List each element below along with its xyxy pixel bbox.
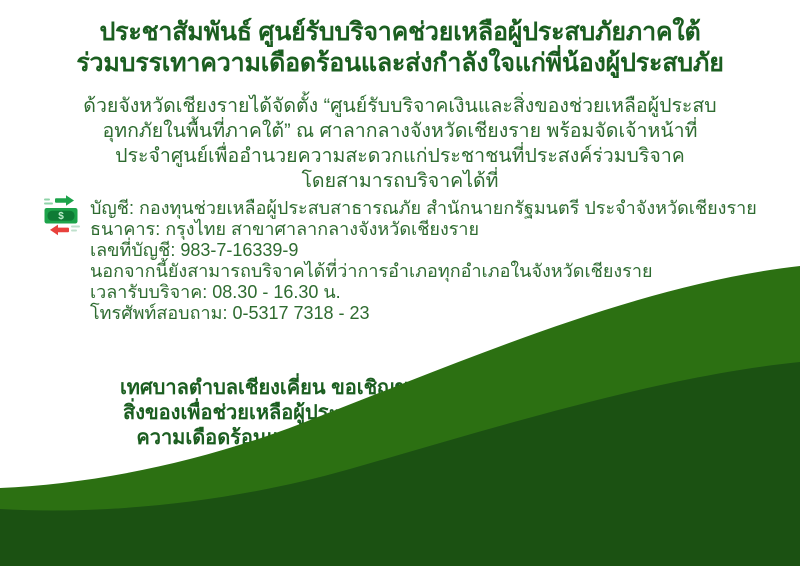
svg-text:$: $ <box>58 211 64 222</box>
detail-phone: โทรศัพท์สอบถาม: 0-5317 7318 - 23 <box>90 303 780 324</box>
footer-call-to-action: เทศบาลตำบลเชียงเคี่ยน ขอเชิญชวนประชาชนร่… <box>0 376 800 451</box>
intro-paragraph: ด้วยจังหวัดเชียงรายได้จัดตั้ง “ศูนย์รับบ… <box>40 94 760 194</box>
title-line-2: ร่วมบรรเทาความเดือดร้อนและส่งกำลังใจแก่พ… <box>0 48 800 79</box>
poster-title: ประชาสัมพันธ์ ศูนย์รับบริจาคช่วยเหลือผู้… <box>0 17 800 79</box>
intro-line-1: ด้วยจังหวัดเชียงรายได้จัดตั้ง “ศูนย์รับบ… <box>40 94 760 119</box>
footer-line-2: สิ่งของเพื่อช่วยเหลือผู้ประสบภัยในพื้นที… <box>0 401 800 426</box>
detail-account-number: เลขที่บัญชี: 983-7-16339-9 <box>90 240 780 261</box>
donation-details: $ บัญชี: กองทุนช่วยเหลือผู้ประสบสาธารณภั… <box>40 196 780 324</box>
detail-account-fund: บัญชี: กองทุนช่วยเหลือผู้ประสบสาธารณภัย … <box>90 198 780 219</box>
intro-line-2: อุทกภัยในพื้นที่ภาคใต้” ณ ศาลากลางจังหวั… <box>40 119 760 144</box>
donation-announcement-poster: ประชาสัมพันธ์ ศูนย์รับบริจาคช่วยเหลือผู้… <box>0 0 800 566</box>
detail-hours: เวลารับบริจาค: 08.30 - 16.30 น. <box>90 282 780 303</box>
intro-line-4: โดยสามารถบริจาคได้ที่ <box>40 169 760 194</box>
title-line-1: ประชาสัมพันธ์ ศูนย์รับบริจาคช่วยเหลือผู้… <box>0 17 800 48</box>
footer-line-1: เทศบาลตำบลเชียงเคี่ยน ขอเชิญชวนประชาชนร่… <box>0 376 800 401</box>
donation-details-text: บัญชี: กองทุนช่วยเหลือผู้ประสบสาธารณภัย … <box>90 196 780 324</box>
money-transfer-icon: $ <box>40 194 84 238</box>
detail-bank: ธนาคาร: กรุงไทย สาขาศาลากลางจังหวัดเชียง… <box>90 219 780 240</box>
intro-line-3: ประจำศูนย์เพื่ออำนวยความสะดวกแก่ประชาชนท… <box>40 144 760 169</box>
footer-line-3: ความเดือดร้อนและส่งกำลังใจให้แก่พี่น้องผ… <box>0 426 800 451</box>
detail-additional-locations: นอกจากนี้ยังสามารถบริจาคได้ที่ว่าการอำเภ… <box>90 261 780 282</box>
